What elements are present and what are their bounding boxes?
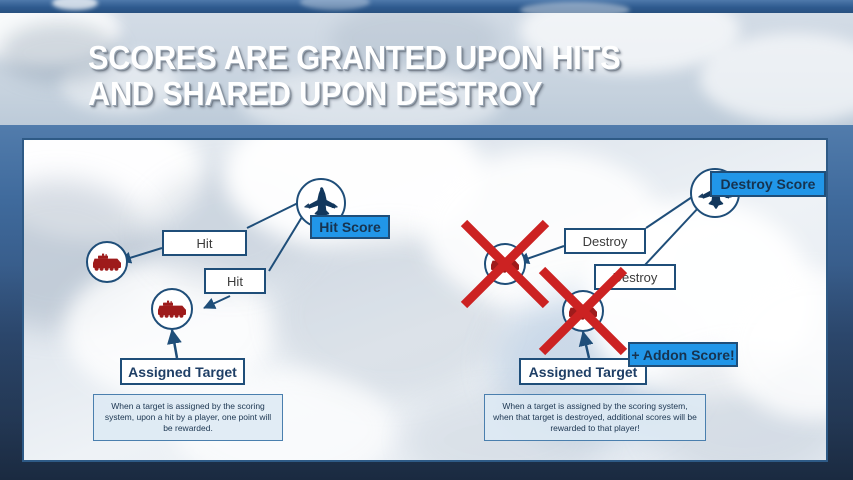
right-edge-label-destroy-2[interactable]: Destroy — [594, 264, 676, 290]
destroy-score-badge-label: Destroy Score — [721, 176, 816, 192]
left-target-node-2[interactable] — [151, 288, 193, 330]
header-band: SCORES ARE GRANTED UPON HITS AND SHARED … — [0, 13, 853, 125]
right-edge-label-destroy-1-text: Destroy — [583, 234, 628, 249]
left-caption-text: When a target is assigned by the scoring… — [105, 401, 271, 433]
destroy-score-badge[interactable]: Destroy Score — [710, 171, 826, 197]
hit-score-badge[interactable]: Hit Score — [310, 215, 390, 239]
right-assigned-target-text: Assigned Target — [529, 364, 638, 380]
page-title: SCORES ARE GRANTED UPON HITS AND SHARED … — [88, 40, 702, 112]
left-assigned-target-text: Assigned Target — [128, 364, 237, 380]
right-caption-box: When a target is assigned by the scoring… — [484, 394, 706, 441]
left-target-node-1[interactable] — [86, 241, 128, 283]
hit-score-badge-label: Hit Score — [319, 219, 380, 235]
left-edge-label-hit-2[interactable]: Hit — [204, 268, 266, 294]
armored-vehicle-icon — [490, 255, 520, 273]
left-edge-label-hit-1-text: Hit — [197, 236, 213, 251]
slide-root: SCORES ARE GRANTED UPON HITS AND SHARED … — [0, 0, 853, 480]
armored-vehicle-icon — [92, 253, 122, 271]
content-panel: Hit Score Hit Hit — [22, 138, 828, 462]
armored-vehicle-icon — [568, 302, 598, 320]
left-edge-label-hit-1[interactable]: Hit — [162, 230, 247, 256]
top-sky-strip — [0, 0, 853, 13]
right-target-node-1[interactable] — [484, 243, 526, 285]
addon-score-badge[interactable]: + Addon Score! — [628, 342, 738, 367]
armored-vehicle-icon — [157, 300, 187, 318]
left-edge-label-hit-2-text: Hit — [227, 274, 243, 289]
right-edge-label-destroy-2-text: Destroy — [613, 270, 658, 285]
right-target-node-2[interactable] — [562, 290, 604, 332]
right-caption-text: When a target is assigned by the scoring… — [493, 401, 697, 433]
addon-score-badge-label: + Addon Score! — [631, 347, 734, 363]
left-assigned-target-label[interactable]: Assigned Target — [120, 358, 245, 385]
left-caption-box: When a target is assigned by the scoring… — [93, 394, 283, 441]
right-edge-label-destroy-1[interactable]: Destroy — [564, 228, 646, 254]
